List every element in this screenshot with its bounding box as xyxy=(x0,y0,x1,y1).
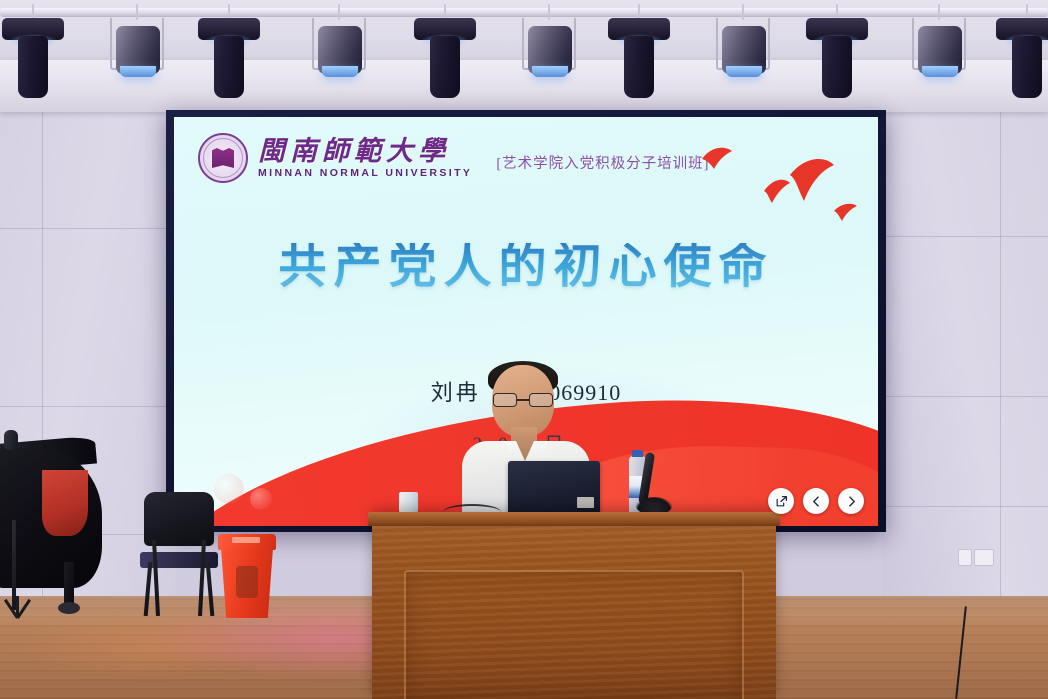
stage-light-par xyxy=(712,0,774,100)
slide-navigation xyxy=(768,488,864,514)
next-slide-button[interactable] xyxy=(838,488,864,514)
mic-tripod-base xyxy=(0,596,48,618)
flying-birds-graphic xyxy=(694,139,864,229)
lecture-hall-scene: 閩南師範大學 MINNAN NORMAL UNIVERSITY [艺术学院入党积… xyxy=(0,0,1048,699)
stage-light-par xyxy=(518,0,580,100)
share-button[interactable] xyxy=(768,488,794,514)
wall-switch-plate xyxy=(958,549,972,566)
presenter-laptop xyxy=(508,461,600,515)
piano-leg xyxy=(64,562,74,606)
podium-panel xyxy=(404,570,744,699)
microphone-head-icon xyxy=(4,430,18,450)
stage-light-moving-head xyxy=(414,0,476,100)
share-icon xyxy=(775,495,788,508)
stage-light-moving-head xyxy=(608,0,670,100)
wall-outlet xyxy=(974,549,994,566)
university-name-en: MINNAN NORMAL UNIVERSITY xyxy=(258,167,472,179)
wooden-podium xyxy=(372,512,776,699)
piano-wheel xyxy=(58,602,80,614)
stage-light-moving-head xyxy=(198,0,260,100)
stage-light-par xyxy=(908,0,970,100)
stage-light-moving-head xyxy=(806,0,868,100)
red-plastic-stool xyxy=(218,534,276,618)
birds-svg xyxy=(694,139,864,229)
stage-light-moving-head xyxy=(2,0,64,100)
folding-chair xyxy=(140,492,218,616)
slide-header: 閩南師範大學 MINNAN NORMAL UNIVERSITY [艺术学院入党积… xyxy=(198,133,709,183)
course-tag: [艺术学院入党积极分子培训班] xyxy=(496,144,709,173)
presenter-glasses-icon xyxy=(493,393,553,408)
stage-light-par xyxy=(106,0,168,100)
university-emblem-icon xyxy=(198,133,248,183)
stage-light-moving-head xyxy=(996,0,1048,100)
university-name-block: 閩南師範大學 MINNAN NORMAL UNIVERSITY xyxy=(258,138,472,179)
piano-drape xyxy=(42,470,88,536)
right-wall xyxy=(882,96,1048,608)
chevron-right-icon xyxy=(845,495,858,508)
prev-slide-button[interactable] xyxy=(803,488,829,514)
university-name-cn: 閩南師範大學 xyxy=(258,138,472,165)
stage-light-par xyxy=(308,0,370,100)
slide-title: 共产党人的初心使命 xyxy=(174,243,878,291)
chevron-left-icon xyxy=(810,495,823,508)
